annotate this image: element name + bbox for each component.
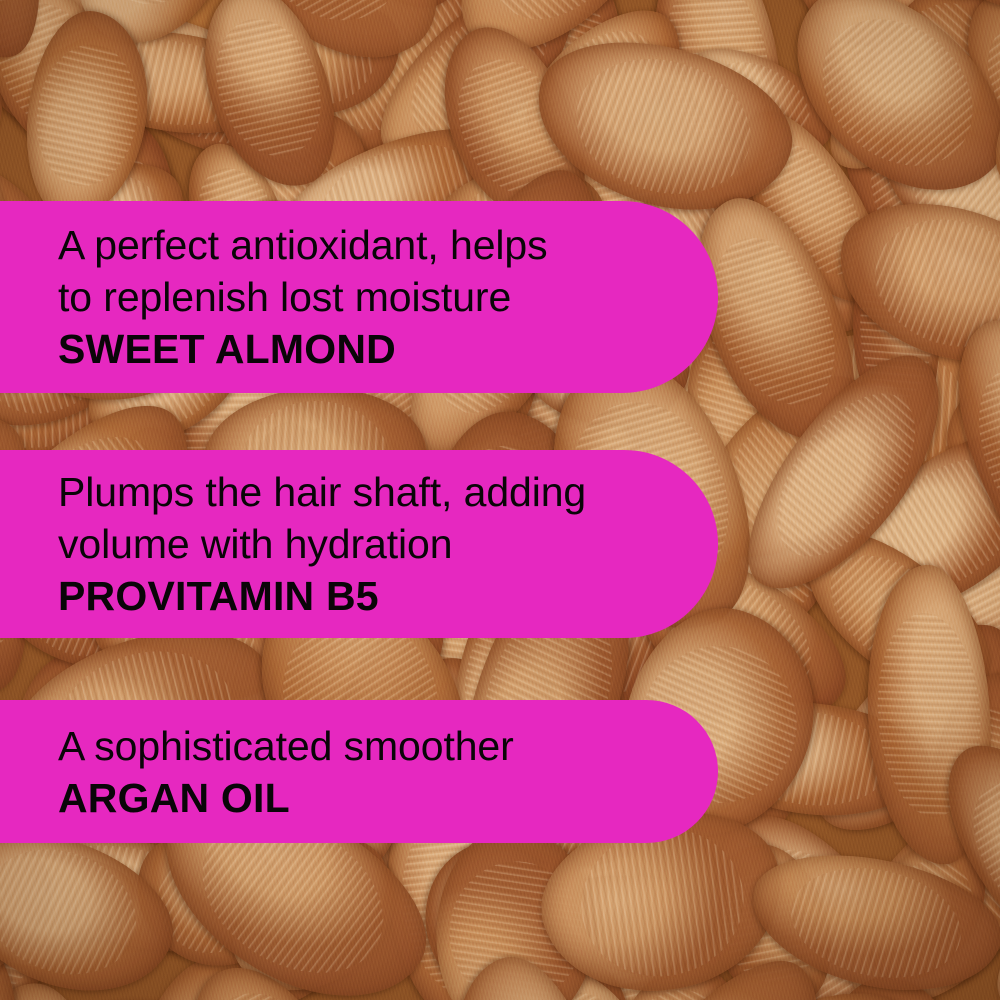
banner-2-ingredient-name: PROVITAMIN B5 xyxy=(58,570,718,622)
banner-1-line-1: A perfect antioxidant, helps xyxy=(58,219,718,271)
product-ingredient-infographic: A perfect antioxidant, helps to replenis… xyxy=(0,0,1000,1000)
banner-3-ingredient-name: ARGAN OIL xyxy=(58,772,718,824)
ingredient-banner-argan-oil: A sophisticated smoother ARGAN OIL xyxy=(0,700,718,843)
banner-2-line-1: Plumps the hair shaft, adding xyxy=(58,466,718,518)
banner-1-ingredient-name: SWEET ALMOND xyxy=(58,323,718,375)
banner-1-line-2: to replenish lost moisture xyxy=(58,271,718,323)
ingredient-banner-sweet-almond: A perfect antioxidant, helps to replenis… xyxy=(0,201,718,393)
banner-3-line-1: A sophisticated smoother xyxy=(58,720,718,772)
ingredient-banner-provitamin-b5: Plumps the hair shaft, adding volume wit… xyxy=(0,450,718,638)
banner-2-line-2: volume with hydration xyxy=(58,518,718,570)
